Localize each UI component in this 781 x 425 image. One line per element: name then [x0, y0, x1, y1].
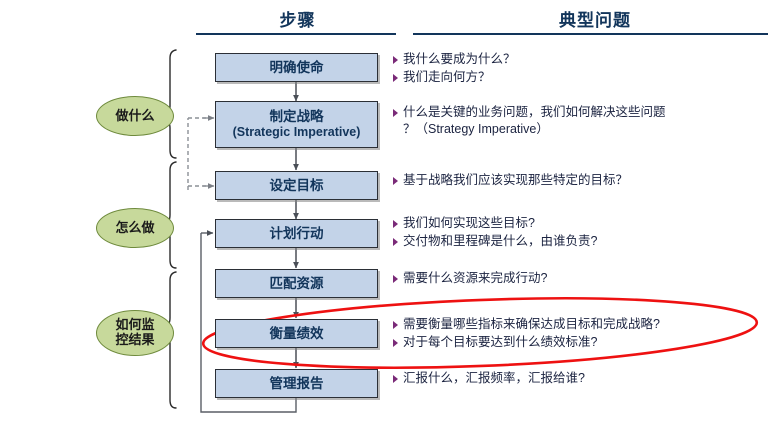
questions-strategy: 什么是关键的业务问题，我们如何解决这些问题 ？（Strategy Imperat… — [393, 104, 771, 139]
phase-label-line: 做什么 — [115, 109, 154, 124]
question-text: 我们如何实现这些目标? — [403, 215, 771, 232]
phase-label-line: 控结果 — [115, 333, 154, 348]
step-box-strategy[interactable]: 制定战略 (Strategic Imperative) — [215, 101, 378, 148]
question-item: 什么是关键的业务问题，我们如何解决这些问题 ？（Strategy Imperat… — [393, 104, 771, 138]
bullet-triangle-icon — [393, 109, 398, 117]
step-label-sub: (Strategic Imperative) — [233, 125, 361, 140]
bullet-triangle-icon — [393, 275, 398, 283]
question-item: 我们如何实现这些目标? — [393, 215, 771, 232]
step-box-report[interactable]: 管理报告 — [215, 369, 378, 398]
questions-report: 汇报什么，汇报频率，汇报给谁? — [393, 370, 771, 388]
step-label: 匹配资源 — [270, 276, 324, 292]
phase-label-line: 如何监 — [115, 318, 154, 333]
questions-measure: 需要衡量哪些指标来确保达成目标和完成战略? 对于每个目标要达到什么绩效标准? — [393, 316, 771, 352]
phase-ellipse-what[interactable]: 做什么 — [96, 96, 174, 136]
question-item: 我们走向何方？ — [393, 69, 771, 86]
step-box-resources[interactable]: 匹配资源 — [215, 269, 378, 298]
phase-ellipse-monitor[interactable]: 如何监 控结果 — [96, 310, 174, 356]
step-label: 设定目标 — [270, 178, 324, 194]
question-item: 对于每个目标要达到什么绩效标准? — [393, 334, 771, 351]
question-text: 交付物和里程碑是什么，由谁负责? — [403, 233, 771, 250]
question-item: 基于战略我们应该实现那些特定的目标？ — [393, 172, 771, 189]
bullet-triangle-icon — [393, 339, 398, 347]
bullet-triangle-icon — [393, 177, 398, 185]
step-label: 管理报告 — [270, 376, 324, 392]
question-item: 需要衡量哪些指标来确保达成目标和完成战略? — [393, 316, 771, 333]
step-label: 明确使命 — [270, 60, 324, 76]
bullet-triangle-icon — [393, 56, 398, 64]
bullet-triangle-icon — [393, 238, 398, 246]
question-text: 什么是关键的业务问题，我们如何解决这些问题 ？（Strategy Imperat… — [403, 104, 771, 138]
questions-mission: 我什么要成为什么？ 我们走向何方？ — [393, 51, 771, 87]
bullet-triangle-icon — [393, 220, 398, 228]
question-text: 我们走向何方？ — [403, 69, 771, 86]
question-item: 汇报什么，汇报频率，汇报给谁? — [393, 370, 771, 387]
bullet-triangle-icon — [393, 74, 398, 82]
question-text: 需要衡量哪些指标来确保达成目标和完成战略? — [403, 316, 771, 333]
bullet-triangle-icon — [393, 375, 398, 383]
questions-actions: 我们如何实现这些目标? 交付物和里程碑是什么，由谁负责? — [393, 215, 771, 251]
questions-resources: 需要什么资源来完成行动? — [393, 270, 771, 288]
step-box-measure[interactable]: 衡量绩效 — [215, 319, 378, 348]
step-box-actions[interactable]: 计划行动 — [215, 219, 378, 248]
question-text: 基于战略我们应该实现那些特定的目标？ — [403, 172, 771, 189]
question-item: 我什么要成为什么？ — [393, 51, 771, 68]
questions-objectives: 基于战略我们应该实现那些特定的目标？ — [393, 172, 771, 190]
question-text: 对于每个目标要达到什么绩效标准? — [403, 334, 771, 351]
question-text: 我什么要成为什么？ — [403, 51, 771, 68]
phase-label-line: 怎么做 — [115, 221, 154, 236]
question-item: 交付物和里程碑是什么，由谁负责? — [393, 233, 771, 250]
question-text-cont: ？（Strategy Imperative） — [403, 121, 771, 138]
step-label: 计划行动 — [270, 226, 324, 242]
step-label: 制定战略 — [270, 109, 324, 125]
question-text-line: 什么是关键的业务问题，我们如何解决这些问题 — [403, 105, 666, 119]
question-text: 需要什么资源来完成行动? — [403, 270, 771, 287]
step-label: 衡量绩效 — [270, 326, 324, 342]
step-box-mission[interactable]: 明确使命 — [215, 53, 378, 82]
phase-ellipse-how[interactable]: 怎么做 — [96, 208, 174, 248]
question-text: 汇报什么，汇报频率，汇报给谁? — [403, 370, 771, 387]
question-item: 需要什么资源来完成行动? — [393, 270, 771, 287]
slide-canvas: 步骤 典型问题 — [0, 0, 781, 425]
bullet-triangle-icon — [393, 321, 398, 329]
step-box-objectives[interactable]: 设定目标 — [215, 171, 378, 200]
